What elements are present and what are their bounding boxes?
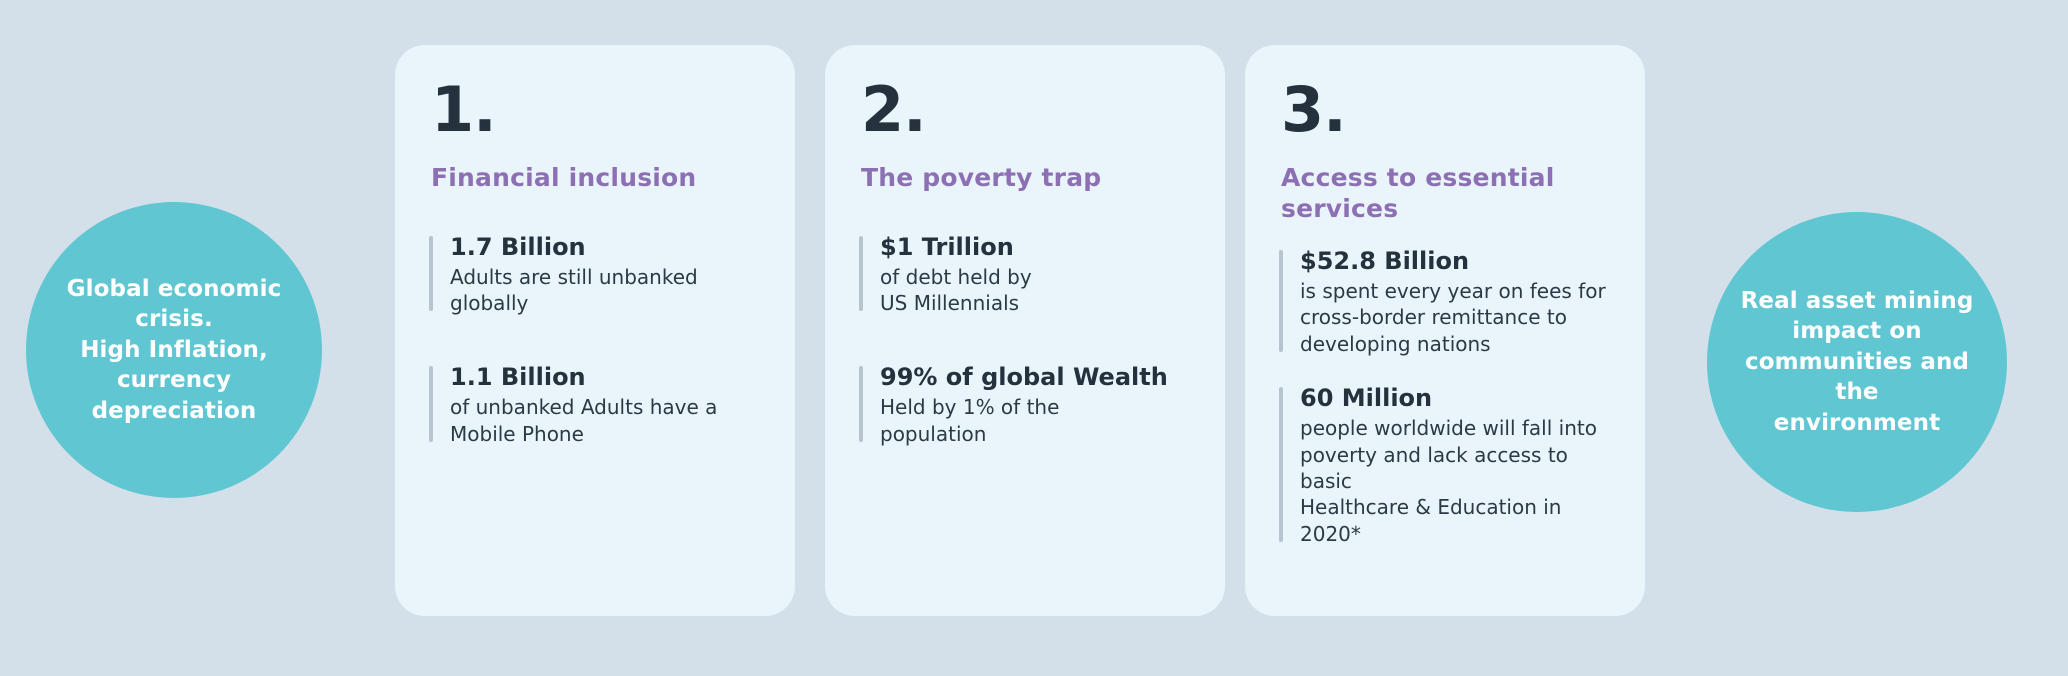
circle-global-economic-crisis: Global economic crisis. High Inflation, …: [26, 202, 322, 498]
card-1-number: 1.: [431, 79, 761, 141]
stat-value: 1.7 Billion: [450, 232, 761, 262]
card-1-stats: 1.7 Billion Adults are still unbanked gl…: [429, 232, 761, 448]
stat-description: is spent every year on fees for cross-bo…: [1300, 278, 1611, 357]
stat-value: 99% of global Wealth: [880, 362, 1191, 392]
stat-accent-bar: [1279, 387, 1283, 542]
card-poverty-trap: 2. The poverty trap $1 Trillion of debt …: [825, 45, 1225, 616]
circle-right-text: Real asset mining impact on communities …: [1707, 286, 2007, 439]
stat-description: of unbanked Adults have a Mobile Phone: [450, 394, 761, 447]
stat-value: $1 Trillion: [880, 232, 1191, 262]
infographic-canvas: Global economic crisis. High Inflation, …: [0, 0, 2068, 676]
stat-accent-bar: [859, 366, 863, 442]
stat-description: Held by 1% of the population: [880, 394, 1191, 447]
stat-value: $52.8 Billion: [1300, 246, 1611, 276]
card-2-stats: $1 Trillion of debt held by US Millennia…: [859, 232, 1191, 448]
stat-accent-bar: [859, 236, 863, 312]
stat-description: Adults are still unbanked globally: [450, 264, 761, 317]
stat-accent-bar: [429, 236, 433, 312]
card-2-number: 2.: [861, 79, 1191, 141]
stat-description: of debt held by US Millennials: [880, 264, 1191, 317]
card-2-subtitle: The poverty trap: [861, 163, 1191, 194]
stat-value: 1.1 Billion: [450, 362, 761, 392]
card-access-to-essential-services: 3. Access to essential services $52.8 Bi…: [1245, 45, 1645, 616]
stat-accent-bar: [1279, 250, 1283, 352]
stat-description: people worldwide will fall into poverty …: [1300, 415, 1611, 547]
card-3-number: 3.: [1281, 79, 1611, 141]
stat-value: 60 Million: [1300, 383, 1611, 413]
stat-item: 60 Million people worldwide will fall in…: [1279, 383, 1611, 547]
stat-item: $1 Trillion of debt held by US Millennia…: [859, 232, 1191, 317]
card-3-subtitle: Access to essential services: [1281, 163, 1611, 224]
circle-real-asset-mining-impact: Real asset mining impact on communities …: [1707, 212, 2007, 512]
stat-item: 1.1 Billion of unbanked Adults have a Mo…: [429, 362, 761, 447]
stat-item: $52.8 Billion is spent every year on fee…: [1279, 246, 1611, 357]
stat-accent-bar: [429, 366, 433, 442]
card-1-subtitle: Financial inclusion: [431, 163, 761, 194]
stat-item: 1.7 Billion Adults are still unbanked gl…: [429, 232, 761, 317]
circle-left-text: Global economic crisis. High Inflation, …: [26, 274, 322, 427]
card-financial-inclusion: 1. Financial inclusion 1.7 Billion Adult…: [395, 45, 795, 616]
card-3-stats: $52.8 Billion is spent every year on fee…: [1279, 246, 1611, 547]
stat-item: 99% of global Wealth Held by 1% of the p…: [859, 362, 1191, 447]
